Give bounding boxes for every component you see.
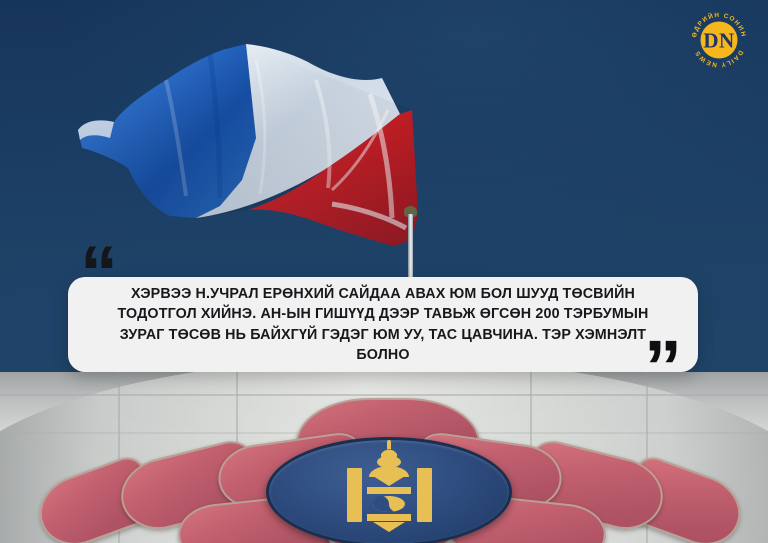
soyombo-yin-yang <box>373 496 405 512</box>
soyombo-lower-triangle <box>373 522 405 532</box>
soyombo-right-bar <box>417 468 432 522</box>
logo-monogram: DN <box>703 29 734 53</box>
soyombo-upper-rectangle <box>367 487 411 494</box>
close-quote-icon: ” <box>644 330 682 406</box>
soyombo-left-bar <box>347 468 362 522</box>
quote-card: ХЭРВЭЭ Н.УЧРАЛ ЕРӨНХИЙ САЙДАА АВАХ ЮМ БО… <box>68 277 698 372</box>
quote-line-3: БАЙХГҮЙ ГЭДЭГ ЮМ УУ, ТАС ЦАВЧИНА. ТЭР ХЭ… <box>250 327 646 363</box>
publisher-logo[interactable]: ӨДРИЙН СОНИН DAILY NEWS DN <box>688 9 750 71</box>
quote-text: ХЭРВЭЭ Н.УЧРАЛ ЕРӨНХИЙ САЙДАА АВАХ ЮМ БО… <box>94 284 672 365</box>
soyombo-lower-rectangle <box>367 514 411 521</box>
soyombo-upper-triangle <box>373 476 405 486</box>
soyombo-plaque <box>266 437 512 543</box>
french-tricolour-flag <box>70 18 420 268</box>
quote-card-image: “ ХЭРВЭЭ Н.УЧРАЛ ЕРӨНХИЙ САЙДАА АВАХ ЮМ … <box>0 0 768 543</box>
